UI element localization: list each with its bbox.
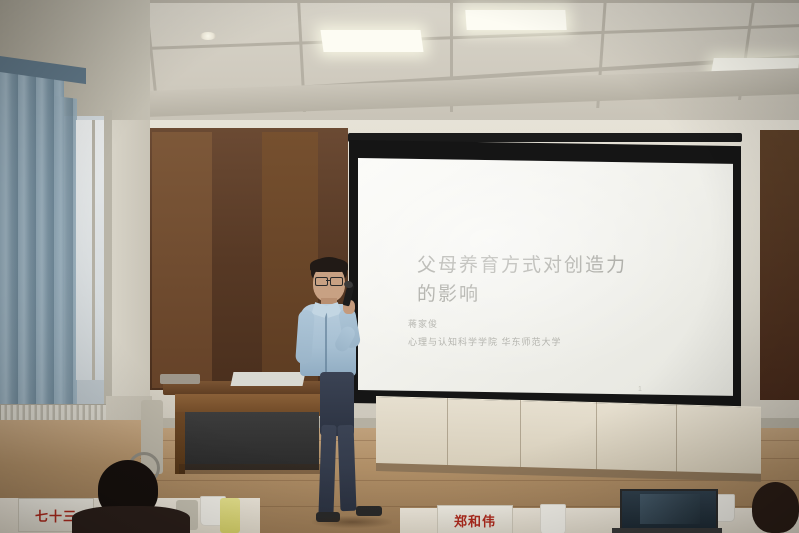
slide-title-line1: 父母养育方式对创造力 (417, 252, 667, 280)
glasses-lens-right (330, 277, 343, 286)
ceiling-light (465, 10, 566, 30)
floor-plank-line (130, 480, 799, 481)
audience-shoulders (72, 506, 190, 533)
downlight (200, 32, 216, 40)
nameplate-text: 七十三 (35, 506, 77, 525)
paper-cup (540, 504, 566, 533)
slide-title-line2: 的影响 (417, 281, 667, 309)
presenter-hair-top (310, 258, 348, 272)
nameplate-text: 郑和伟 (454, 511, 496, 530)
podium-front-panel (179, 412, 319, 470)
ceiling-light (320, 30, 423, 52)
audience-head (752, 482, 799, 533)
nameplate: 郑和伟 (437, 505, 513, 533)
cabinet-seam (676, 404, 677, 472)
presenter-leg-right (338, 425, 357, 512)
presenter-shoe-left (316, 512, 340, 522)
podium-side (175, 412, 185, 474)
foreground-laptop-base (612, 528, 722, 533)
slide-affiliation: 心理与认知科学学院 华东师范大学 (408, 336, 628, 350)
presenter-shoe-right (356, 506, 382, 516)
laptop (231, 372, 306, 386)
cabinet-seam (520, 400, 521, 468)
slide-page-number: 1 (638, 386, 642, 393)
curtain (55, 96, 77, 419)
ceiling-light (710, 58, 799, 78)
tea-bottle (220, 498, 240, 533)
wall-cabinet (376, 396, 761, 478)
foreground-laptop-screen (620, 489, 718, 533)
slide-presenter: 蒋家俊 (408, 318, 608, 332)
cabinet-seam (447, 398, 448, 466)
presenter-leg-left (318, 425, 336, 515)
wall-wood-panel (152, 132, 212, 388)
cabinet-seam (596, 402, 597, 470)
glasses-lens-left (315, 277, 328, 286)
ceiling-grid-line (450, 0, 453, 112)
photo-scene: 父母养育方式对创造力 的影响 蒋家俊 心理与认知科学学院 华东师范大学 1 (0, 0, 799, 533)
wall-wood-panel (760, 130, 799, 400)
